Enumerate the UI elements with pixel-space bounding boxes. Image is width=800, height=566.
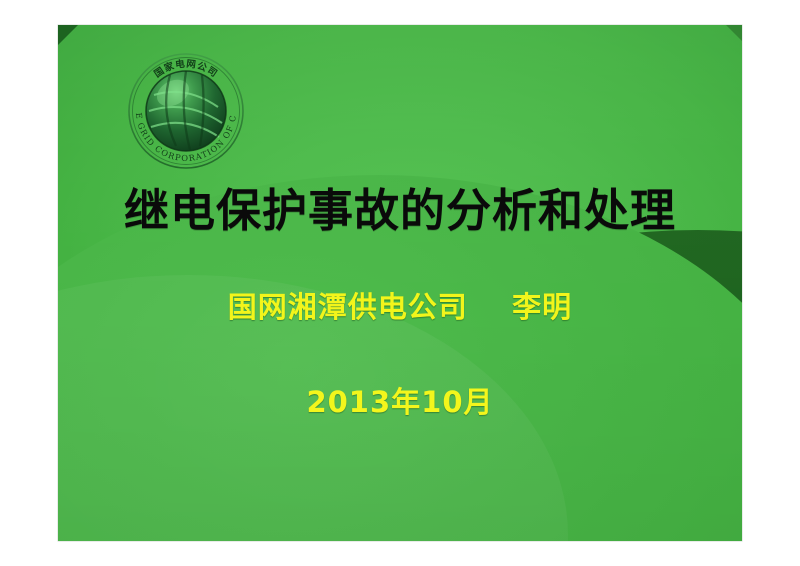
- top-left-corner-triangle: [58, 25, 78, 45]
- page-canvas: 国家电网公司 STATE GRID CORPORATION OF CHINA 继…: [0, 0, 800, 566]
- state-grid-logo: 国家电网公司 STATE GRID CORPORATION OF CHINA: [120, 45, 252, 177]
- slide-date: 2013年10月: [58, 388, 742, 417]
- slide-title: 继电保护事故的分析和处理: [58, 188, 742, 233]
- top-right-corner-triangle: [726, 25, 742, 41]
- presentation-slide: 国家电网公司 STATE GRID CORPORATION OF CHINA 继…: [58, 25, 742, 541]
- slide-subtitle-author: 国网湘潭供电公司 李明: [58, 293, 742, 322]
